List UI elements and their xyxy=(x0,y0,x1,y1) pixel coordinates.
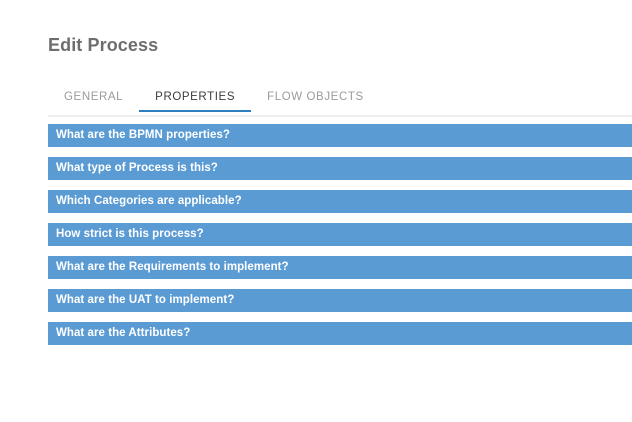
list-item[interactable]: What are the UAT to implement? xyxy=(48,289,632,312)
tab-properties-label: PROPERTIES xyxy=(155,91,235,103)
tab-properties-indicator xyxy=(139,110,251,112)
tab-flow-objects-label: FLOW OBJECTS xyxy=(267,91,364,103)
list-item[interactable]: What are the Requirements to implement? xyxy=(48,256,632,279)
list-item[interactable]: What are the BPMN properties? xyxy=(48,124,632,147)
list-item[interactable]: What type of Process is this? xyxy=(48,157,632,180)
list-item[interactable]: What are the Attributes? xyxy=(48,322,632,345)
tab-bar: GENERAL PROPERTIES FLOW OBJECTS xyxy=(48,88,632,118)
question-list: What are the BPMN properties? What type … xyxy=(48,124,632,345)
tab-general[interactable]: GENERAL xyxy=(48,88,139,112)
tab-bar-divider xyxy=(48,115,632,117)
tab-list: GENERAL PROPERTIES FLOW OBJECTS xyxy=(48,88,380,112)
tab-general-indicator xyxy=(48,110,139,112)
tab-flow-objects-indicator xyxy=(251,110,380,112)
tab-properties[interactable]: PROPERTIES xyxy=(139,88,251,112)
tab-general-label: GENERAL xyxy=(64,91,123,103)
list-item[interactable]: How strict is this process? xyxy=(48,223,632,246)
list-item[interactable]: Which Categories are applicable? xyxy=(48,190,632,213)
tab-flow-objects[interactable]: FLOW OBJECTS xyxy=(251,88,380,112)
page-title: Edit Process xyxy=(48,34,158,56)
edit-process-panel: Edit Process GENERAL PROPERTIES FLOW OBJ… xyxy=(0,0,632,422)
